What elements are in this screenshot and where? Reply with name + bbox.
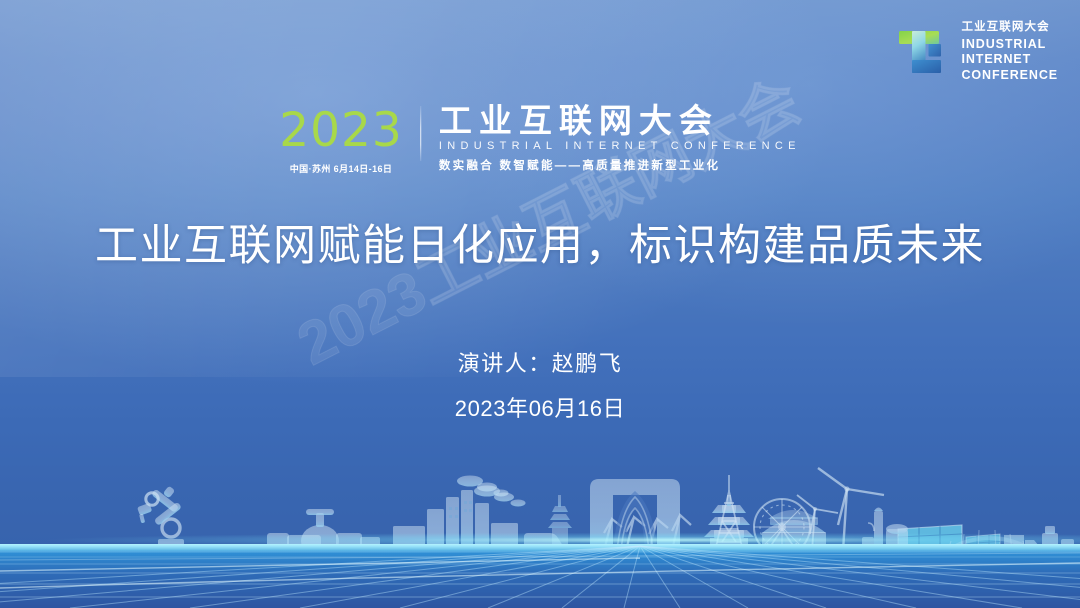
speaker-line: 演讲人：赵鹏飞 — [0, 346, 1080, 378]
presentation-slide: 工业互联网大会 INDUSTRIAL INTERNET CONFERENCE 2… — [0, 0, 1080, 608]
conference-name-en: INDUSTRIAL INTERNET CONFERENCE — [439, 140, 801, 152]
corner-logo-text: 工业互联网大会 INDUSTRIAL INTERNET CONFERENCE — [961, 22, 1058, 84]
page-title: 工业互联网赋能日化应用，标识构建品质未来 — [0, 222, 1080, 272]
event-lockup-right: 工业互联网大会 INDUSTRIAL INTERNET CONFERENCE 数… — [421, 104, 801, 173]
corner-logo-cn-name: 工业互联网大会 — [961, 22, 1058, 34]
gate-of-the-orient-icon — [590, 479, 680, 551]
event-year: 2023 — [279, 108, 403, 153]
background-glow-top-left — [0, 0, 832, 383]
event-lockup-left: 2023 中国·苏州 6月14日-16日 — [279, 104, 420, 175]
corner-logo-en-line-1: INDUSTRIAL — [961, 37, 1058, 53]
event-lockup: 2023 中国·苏州 6月14日-16日 工业互联网大会 INDUSTRIAL … — [279, 104, 801, 175]
date-line: 2023年06月16日 — [0, 391, 1080, 423]
corner-logo-en-line-2: INTERNET — [961, 52, 1058, 68]
conference-name-cn: 工业互联网大会 — [439, 104, 801, 138]
corner-logo-en-line-3: CONFERENCE — [961, 68, 1058, 84]
robotic-arm-icon — [137, 486, 184, 548]
perspective-grid-floor — [0, 544, 1080, 608]
event-place-and-dates: 中国·苏州 6月14日-16日 — [279, 162, 403, 175]
conference-slogan: 数实融合 数智赋能——高质量推进新型工业化 — [439, 157, 801, 173]
corner-logo: 工业互联网大会 INDUSTRIAL INTERNET CONFERENCE — [894, 22, 1058, 84]
industrial-internet-conference-logo-mark-icon — [894, 25, 952, 81]
